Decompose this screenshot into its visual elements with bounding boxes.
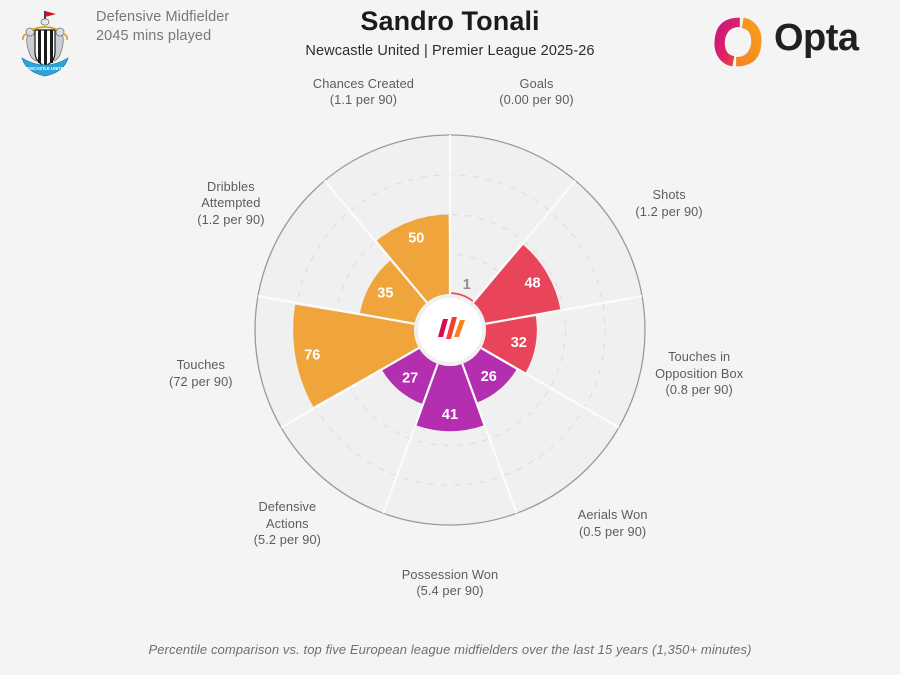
svg-text:NEWCASTLE UNITED: NEWCASTLE UNITED: [23, 66, 66, 71]
axis-label: Shots(1.2 per 90): [594, 187, 744, 220]
axis-label: Chances Created(1.1 per 90): [288, 76, 438, 109]
opta-wordmark: Opta: [774, 17, 859, 60]
wedge-value: 50: [408, 230, 424, 246]
axis-label: Possession Won(5.4 per 90): [375, 567, 525, 600]
axis-label: Aerials Won(0.5 per 90): [538, 507, 688, 540]
player-minutes: 2045 mins played: [96, 27, 229, 46]
wedge-value: 48: [524, 275, 540, 291]
wedge-value: 41: [442, 407, 458, 423]
wedge-value: 76: [304, 347, 320, 363]
axis-label: Goals(0.00 per 90): [462, 76, 612, 109]
wedge-value: 27: [402, 370, 418, 386]
header: NEWCASTLE UNITED Defensive Midfielder 20…: [0, 0, 900, 86]
wedge-value: 35: [377, 286, 393, 302]
newcastle-united-crest: NEWCASTLE UNITED: [14, 6, 76, 78]
opta-mark-icon: [708, 13, 768, 71]
axis-label: DefensiveActions(5.2 per 90): [212, 499, 362, 549]
wedge-value: 26: [481, 369, 497, 385]
wedge-value: 1: [463, 277, 471, 293]
player-meta: Defensive Midfielder 2045 mins played: [96, 8, 229, 46]
axis-label: Touches inOpposition Box(0.8 per 90): [624, 349, 774, 399]
wedge-value: 32: [511, 335, 527, 351]
axis-label: Touches(72 per 90): [126, 357, 276, 390]
club-competition: Newcastle United | Premier League 2025-2…: [250, 43, 650, 59]
radar-chart: 14832264127763550 Goals(0.00 per 90)Shot…: [0, 86, 900, 616]
axis-label: DribblesAttempted(1.2 per 90): [156, 179, 306, 229]
title-block: Sandro Tonali Newcastle United | Premier…: [250, 4, 650, 59]
opta-logo: Opta: [708, 13, 888, 71]
chart-footnote: Percentile comparison vs. top five Europ…: [0, 642, 900, 657]
player-position: Defensive Midfielder: [96, 8, 229, 27]
page-title: Sandro Tonali: [250, 4, 650, 38]
